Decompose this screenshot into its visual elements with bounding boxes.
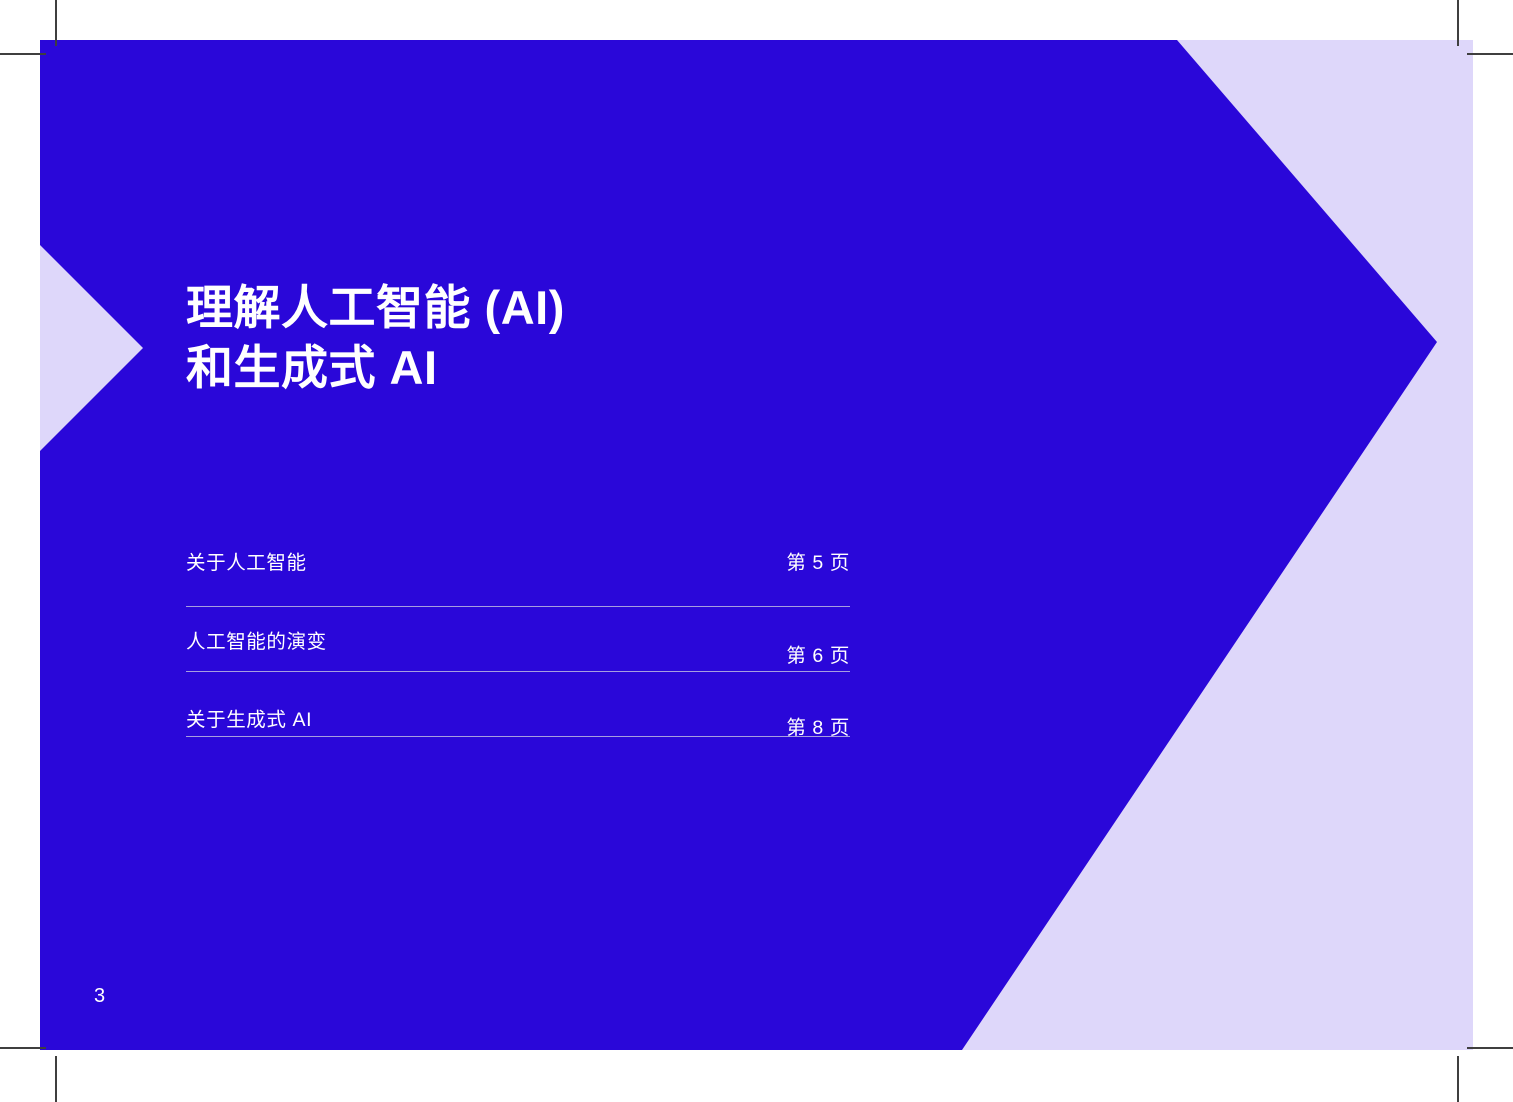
crop-mark-bottom-right-vertical [1457,1056,1459,1102]
toc-entry-page: 第 5 页 [786,546,850,575]
toc-entry-page: 第 8 页 [786,711,850,740]
page-title: 理解人工智能 (AI) 和生成式 AI [186,278,946,398]
toc-entry[interactable]: 关于生成式 AI 第 8 页 [186,672,850,737]
toc-entry-label: 关于人工智能 [186,546,307,575]
crop-mark-top-left-horizontal [0,53,46,55]
crop-mark-top-left-vertical [55,0,57,46]
crop-mark-bottom-right-horizontal [1467,1047,1513,1049]
page-number: 3 [94,985,105,1008]
crop-mark-bottom-left-vertical [55,1056,57,1102]
crop-mark-top-right-vertical [1457,0,1459,46]
toc-entry-label: 关于生成式 AI [186,703,312,732]
toc-entry[interactable]: 关于人工智能 第 5 页 [186,542,850,607]
toc-entry[interactable]: 人工智能的演变 第 6 页 [186,607,850,672]
toc-entry-page: 第 6 页 [786,639,850,668]
left-chevron-notch [40,245,145,451]
toc-entry-label: 人工智能的演变 [186,625,327,654]
table-of-contents: 关于人工智能 第 5 页 人工智能的演变 第 6 页 关于生成式 AI 第 8 … [186,542,850,737]
crop-mark-bottom-left-horizontal [0,1047,46,1049]
slide-page: 理解人工智能 (AI) 和生成式 AI 关于人工智能 第 5 页 人工智能的演变… [0,0,1513,1102]
crop-mark-top-right-horizontal [1467,53,1513,55]
